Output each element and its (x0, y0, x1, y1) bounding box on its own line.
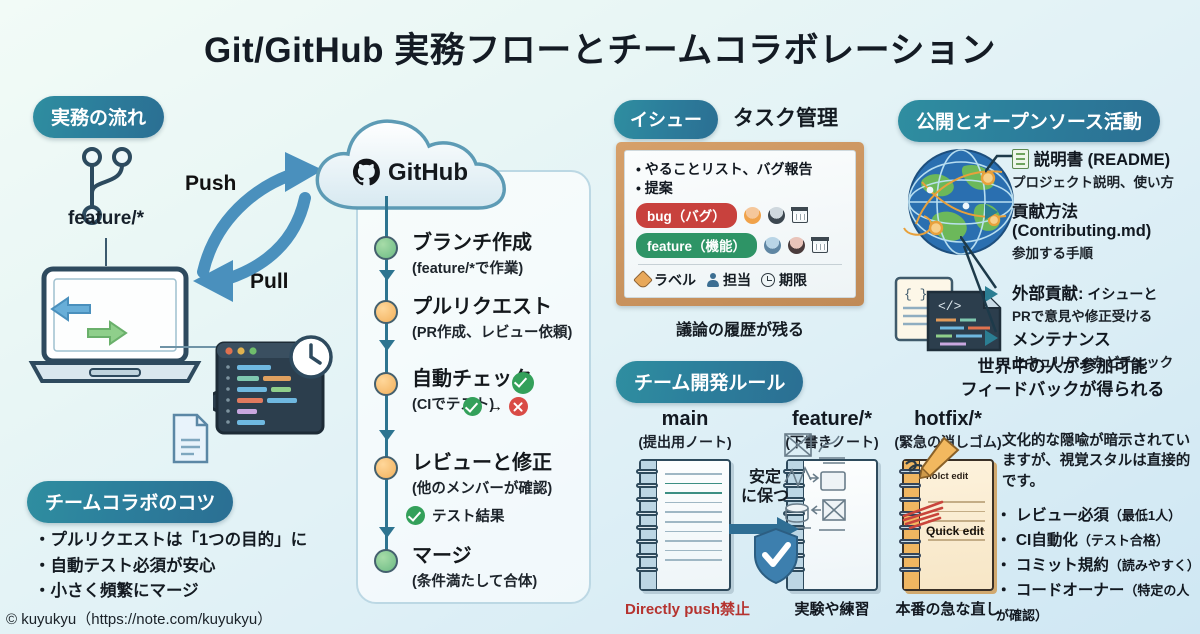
label-tag-feature[interactable]: feature（機能） (636, 233, 757, 258)
person-icon (706, 273, 719, 287)
list-item: 提案 (636, 179, 844, 198)
step-subtitle: (他のメンバーが確認) (412, 477, 552, 498)
step-dot-green (374, 236, 398, 260)
issue-board-inner: やることリスト、バグ報告 提案 bug（バグ） feature（機能） ラベル (624, 150, 856, 298)
oss-item-contributing: 貢献方法 (Contributing.md) 参加する手順 (1012, 198, 1151, 262)
step-subtitle: (PR作成、レビュー依頼) (412, 321, 572, 342)
rule-small: （テスト合格） (1078, 533, 1169, 548)
oss-heading-text: メンテナンス (1012, 326, 1173, 350)
shield-check-icon (752, 527, 800, 585)
issue-board: やることリスト、バグ報告 提案 bug（バグ） feature（機能） ラベル (616, 142, 864, 306)
badge-label-tips: チームコラボのコツ (27, 481, 233, 523)
branch-name: hotfix/* (888, 408, 1008, 431)
oss-arrow-2-icon (985, 204, 998, 220)
section-badge-issue: イシュー (614, 100, 718, 139)
step-dot-orange (374, 300, 398, 324)
calendar-icon (812, 238, 828, 253)
issue-row-feature: feature（機能） (636, 233, 844, 258)
branch-subtitle: (提出用ノート) (625, 432, 745, 452)
flow-arrow-2 (379, 340, 395, 351)
oss-subtext: 参加する手順 (1012, 242, 1151, 262)
notebook-lines (665, 473, 722, 569)
github-mark-icon (352, 158, 381, 187)
oss-caption-line-1: 世界中の人が参加可能 (930, 356, 1195, 379)
issue-caption: 議論の履歴が残る (616, 316, 864, 340)
step-dot-orange (374, 372, 398, 396)
tips-list: プルリクエストは「1つの目的」に 自動テスト必須が安心 小さく頻繁にマージ (34, 528, 364, 605)
step-dot-green (374, 549, 398, 573)
list-item: プルリクエストは「1つの目的」に (34, 528, 364, 554)
list-item: コミット規約（読みやすく） (996, 553, 1200, 578)
page-title: Git/GitHub 実務フローとチームコラボレーション (0, 22, 1200, 73)
badge-label-issue: イシュー (614, 100, 718, 139)
flow-step-1: ブランチ作成 (feature/*で作業) (374, 232, 532, 278)
label-tag-bug[interactable]: bug（バグ） (636, 203, 737, 228)
oss-leader-line-1 (985, 150, 1015, 176)
pencil-scribble-icon (900, 432, 968, 542)
step-title: ブランチ作成 (412, 232, 532, 254)
clock-icon (761, 273, 775, 287)
branch-name: main (625, 408, 745, 431)
rule-main: コミット規約 (1016, 557, 1109, 574)
rule-caption-hotfix: 本番の急な直し (888, 598, 1008, 619)
list-item: レビュー必須（最低1人） (996, 503, 1200, 528)
rule-main: コードオーナー (1016, 582, 1125, 599)
legend-text: 期限 (779, 270, 807, 290)
oss-heading: 説明書 (README) (1012, 146, 1174, 170)
rule-small: （読みやすく） (1109, 558, 1200, 573)
oss-item-readme: 説明書 (README) プロジェクト説明、使い方 (1012, 146, 1174, 191)
check-icon (463, 397, 482, 416)
oss-heading-small: イシューと (1084, 286, 1158, 302)
divider (638, 264, 842, 265)
branch-name: feature/* (772, 408, 892, 431)
badge-label-flow: 実務の流れ (33, 96, 164, 138)
close-icon (509, 397, 528, 416)
infographic-canvas: Git/GitHub 実務フローとチームコラボレーション 実務の流れ featu… (0, 0, 1200, 634)
ci-status-ok-icon (512, 372, 534, 394)
oss-subtext: PRで意見や修正受ける (1012, 305, 1157, 325)
oss-heading-text: 外部貢献: (1012, 285, 1084, 303)
oss-subtext: プロジェクト説明、使い方 (1012, 171, 1174, 191)
step-subtitle: (条件満たして合体) (412, 570, 537, 591)
avatar (788, 237, 805, 254)
section-badge-tips: チームコラボのコツ (27, 481, 233, 523)
github-label-row: GitHub (352, 158, 468, 187)
svg-text:</>: </> (938, 299, 962, 314)
rule-caption-feature: 実験や練習 (772, 598, 892, 619)
badge-label-oss: 公開とオープンソース活動 (898, 100, 1160, 142)
legend-text: ラベル (654, 270, 696, 290)
section-badge-oss: 公開とオープンソース活動 (898, 100, 1160, 142)
document-icon (170, 412, 212, 466)
culture-rules-list: レビュー必須（最低1人） CI自動化（テスト合格） コミット規約（読みやすく） … (996, 503, 1200, 629)
issue-bullet-list: やることリスト、バグ報告 提案 (636, 160, 844, 198)
oss-caption: 世界中の人が参加可能 フィードバックが得られる (930, 356, 1195, 402)
legend-assignee: 担当 (706, 270, 751, 290)
oss-heading-text: 貢献方法 (1012, 198, 1151, 222)
legend-due: 期限 (761, 270, 807, 290)
flow-step-5: マージ (条件満たして合体) (374, 545, 537, 591)
list-item: やることリスト、バグ報告 (636, 160, 844, 179)
legend-text: 担当 (723, 270, 751, 290)
notebook-main-icon (639, 459, 731, 591)
oss-leader-lines (960, 236, 1000, 346)
oss-heading-text: 説明書 (README) (1034, 151, 1171, 169)
flow-arrow-1 (379, 270, 395, 281)
copyright-text: © kuyukyu（https://note.com/kuyukyu） (6, 608, 272, 629)
legend-label: ラベル (636, 270, 696, 290)
calendar-icon (792, 208, 808, 223)
rule-small: （最低1人） (1109, 508, 1181, 523)
oss-heading-text-2: (Contributing.md) (1012, 222, 1151, 241)
local-branch-label: feature/* (46, 208, 166, 230)
flow-arrow-4 (379, 527, 395, 538)
avatar (768, 207, 785, 224)
readme-icon (1012, 149, 1029, 169)
github-label: GitHub (388, 159, 468, 187)
stable-label: 安定に保つ (736, 468, 794, 506)
svg-text:{ }: { } (904, 287, 927, 302)
issue-row-bug: bug（バグ） (636, 203, 844, 228)
rule-main: レビュー必須 (1016, 507, 1109, 524)
ci-status-transition: → (463, 397, 528, 416)
step-title: マージ (412, 545, 537, 567)
branch-connector (105, 238, 107, 266)
test-result-label: テスト結果 (432, 505, 505, 526)
flow-arrow-3 (379, 430, 395, 441)
step-subtitle: (feature/*で作業) (412, 257, 532, 278)
section-badge-flow: 実務の流れ (33, 96, 164, 138)
badge-label-rules: チーム開発ルール (616, 361, 803, 403)
step-title: プルリクエスト (412, 296, 572, 318)
check-icon (512, 372, 534, 394)
oss-item-external: 外部貢献: イシューと PRで意見や修正受ける (1012, 280, 1157, 325)
oss-caption-line-2: フィードバックが得られる (930, 379, 1195, 402)
check-icon (406, 506, 425, 525)
issue-legend: ラベル 担当 期限 (636, 270, 844, 290)
test-result-row: テスト結果 (406, 505, 505, 526)
clock-icon (287, 333, 335, 381)
list-item: CI自動化（テスト合格） (996, 528, 1200, 553)
list-item: コードオーナー（特定の人が確認） (996, 578, 1200, 628)
avatar (764, 237, 781, 254)
flow-step-4: レビューと修正 (他のメンバーが確認) (374, 452, 552, 498)
culture-note: 文化的な隠喩が暗示されていますが、視覚スタルは直接的です。 (1002, 431, 1192, 492)
rule-column-main: main (提出用ノート) Directly push禁止 (625, 408, 745, 619)
rule-main: CI自動化 (1016, 532, 1078, 549)
list-item: 小さく頻繁にマージ (34, 579, 364, 605)
avatar (744, 207, 761, 224)
flow-step-2: プルリクエスト (PR作成、レビュー依頼) (374, 296, 572, 342)
list-item: 自動テスト必須が安心 (34, 554, 364, 580)
issue-subtitle: タスク管理 (733, 102, 838, 132)
step-dot-orange (374, 456, 398, 480)
rule-caption-main: Directly push禁止 (625, 598, 745, 619)
arrow-glyph: → (488, 398, 503, 415)
step-title: レビューと修正 (412, 452, 552, 474)
oss-heading: 外部貢献: イシューと (1012, 280, 1157, 304)
tag-icon (633, 270, 653, 290)
section-badge-rules: チーム開発ルール (616, 361, 803, 403)
